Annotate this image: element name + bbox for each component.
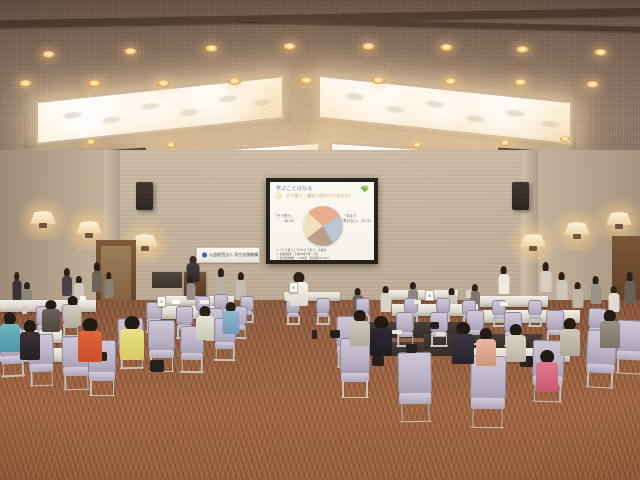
person-body bbox=[12, 280, 21, 300]
person-head bbox=[125, 316, 140, 330]
recessed-downlight bbox=[300, 77, 313, 84]
standing-staff-member bbox=[498, 266, 509, 294]
table-item bbox=[80, 296, 86, 300]
standing-staff-member bbox=[506, 324, 526, 362]
banquet-chair[interactable] bbox=[340, 338, 370, 398]
child-in-yellow-shirt bbox=[120, 316, 144, 360]
person-body bbox=[350, 321, 370, 346]
table-number-card: 8 bbox=[425, 290, 434, 301]
chair-seat bbox=[341, 373, 369, 383]
table-item bbox=[286, 296, 292, 301]
recessed-downlight bbox=[86, 139, 96, 145]
chair-leg bbox=[182, 358, 184, 372]
recessed-downlight bbox=[166, 142, 176, 148]
standing-staff-member bbox=[624, 272, 635, 304]
standing-staff-member bbox=[62, 268, 72, 296]
banner-text: 公益財団法人 学び支援機構 bbox=[209, 252, 258, 258]
recessed-downlight bbox=[157, 80, 170, 87]
table-item bbox=[466, 290, 471, 298]
table-item bbox=[414, 300, 421, 304]
banquet-chair[interactable] bbox=[528, 300, 542, 326]
recessed-downlight bbox=[19, 80, 32, 87]
attendee-bag bbox=[406, 344, 417, 353]
chair-leg bbox=[2, 362, 4, 376]
chair-leg bbox=[233, 348, 235, 361]
wall-sconce bbox=[560, 216, 594, 246]
person-body bbox=[624, 281, 635, 304]
chair-back bbox=[316, 298, 330, 314]
recessed-downlight bbox=[205, 45, 218, 52]
pie-label-left: 「そう思う」 36.2％ bbox=[274, 214, 294, 224]
sconce-base bbox=[573, 234, 581, 239]
chair-leg bbox=[617, 357, 619, 373]
chair-leg bbox=[472, 406, 474, 428]
standing-staff-member bbox=[20, 320, 40, 360]
sconce-base bbox=[615, 224, 623, 229]
chair-seat bbox=[471, 397, 504, 409]
slide-title: 学ぶことばなる bbox=[276, 185, 312, 192]
person-head bbox=[456, 322, 470, 335]
standing-staff-member bbox=[536, 350, 558, 392]
chair-rail bbox=[316, 323, 329, 325]
chair-leg bbox=[172, 356, 174, 372]
recessed-downlight bbox=[514, 79, 527, 86]
chair-seat bbox=[89, 372, 115, 381]
chair-seat bbox=[586, 363, 614, 374]
chair-seat bbox=[616, 351, 640, 361]
person-body bbox=[572, 289, 583, 308]
chair-leg bbox=[64, 374, 66, 390]
chair-leg bbox=[428, 401, 430, 422]
standing-staff-member bbox=[556, 272, 567, 300]
person-body bbox=[370, 328, 392, 356]
recessed-downlight bbox=[594, 49, 607, 56]
person-body bbox=[600, 321, 620, 348]
recessed-downlight bbox=[228, 78, 241, 85]
table-item bbox=[392, 330, 402, 334]
table-item bbox=[436, 332, 445, 336]
person-body bbox=[590, 284, 601, 304]
chair-seat bbox=[181, 352, 203, 360]
recessed-downlight bbox=[88, 80, 101, 87]
person-body bbox=[380, 293, 391, 312]
recessed-downlight bbox=[412, 142, 422, 148]
chair-leg bbox=[559, 384, 561, 403]
banquet-chair[interactable] bbox=[316, 298, 330, 324]
banquet-chair[interactable] bbox=[469, 356, 506, 429]
presentation-slide: 学ぶことばなる そう思う・最近で自分でいますか？ 「そう思う」 36.2％ 「あ… bbox=[270, 182, 374, 260]
chair-leg bbox=[30, 371, 32, 387]
attendee-bag bbox=[330, 330, 340, 338]
standing-staff-member bbox=[540, 262, 551, 292]
recessed-downlight bbox=[372, 77, 385, 84]
chair-leg bbox=[611, 371, 613, 388]
standing-staff-member bbox=[380, 286, 391, 312]
green-leaf-logo bbox=[359, 184, 371, 193]
recessed-downlight bbox=[560, 136, 570, 142]
chair-leg bbox=[201, 358, 203, 372]
banquet-chair[interactable] bbox=[396, 312, 415, 346]
recessed-downlight bbox=[124, 48, 137, 55]
table-item bbox=[200, 300, 209, 304]
chair-seat bbox=[29, 364, 53, 373]
recessed-downlight bbox=[283, 43, 296, 50]
photo-scene: 学ぶことばなる そう思う・最近で自分でいますか？ 「そう思う」 36.2％ 「あ… bbox=[0, 0, 640, 480]
chair-leg bbox=[342, 380, 344, 398]
person-body bbox=[104, 279, 113, 298]
standing-staff-member bbox=[608, 286, 619, 312]
table-item bbox=[22, 306, 27, 314]
person-head bbox=[83, 318, 98, 332]
slide-subtitle: そう思う・最近で自分でいますか？ bbox=[286, 193, 353, 199]
ceiling-speaker bbox=[512, 182, 529, 210]
chair-rail bbox=[528, 325, 541, 327]
standing-staff-member bbox=[104, 272, 113, 298]
event-banner: 公益財団法人 学び支援機構 bbox=[196, 247, 260, 263]
person-body bbox=[42, 309, 60, 332]
person-body bbox=[536, 362, 558, 392]
ceiling-speaker bbox=[136, 182, 153, 210]
banquet-chair[interactable] bbox=[397, 352, 432, 423]
standing-staff-member bbox=[590, 276, 601, 304]
standing-staff-member bbox=[196, 306, 214, 340]
recessed-downlight bbox=[42, 51, 55, 58]
chair-leg bbox=[401, 401, 403, 422]
table-item bbox=[172, 300, 180, 304]
pie-chart bbox=[303, 206, 343, 246]
standing-staff-member bbox=[560, 318, 580, 356]
person-body bbox=[78, 331, 102, 362]
projection-screen[interactable]: 学ぶことばなる そう思う・最近で自分でいますか？ 「そう思う」 36.2％ 「あ… bbox=[266, 178, 378, 264]
standing-staff-member bbox=[222, 302, 239, 334]
ceiling bbox=[0, 0, 640, 175]
chair-seat bbox=[149, 350, 174, 358]
standing-staff-member bbox=[476, 328, 496, 366]
attendee-bag bbox=[150, 360, 164, 372]
side-counter bbox=[152, 272, 182, 288]
person-body bbox=[506, 335, 526, 362]
chair-back bbox=[397, 352, 432, 396]
person-body bbox=[476, 339, 496, 366]
person-body bbox=[0, 324, 20, 352]
chair-rail bbox=[430, 345, 447, 347]
person-body bbox=[92, 271, 102, 292]
standing-staff-member bbox=[572, 282, 583, 308]
standing-staff-member bbox=[370, 316, 392, 356]
person-body bbox=[196, 316, 214, 340]
chair-rail bbox=[286, 323, 299, 325]
standing-staff-member bbox=[42, 300, 60, 332]
recessed-downlight bbox=[586, 81, 599, 88]
standing-staff-member bbox=[350, 310, 370, 346]
chair-back bbox=[148, 320, 175, 352]
standing-staff-member bbox=[92, 262, 102, 292]
person-body bbox=[62, 276, 72, 296]
wall-sconce bbox=[516, 228, 550, 258]
wall-sconce bbox=[26, 205, 60, 235]
recessed-downlight bbox=[516, 46, 529, 53]
recessed-downlight bbox=[362, 43, 375, 50]
standing-staff-member bbox=[452, 322, 474, 364]
person-body bbox=[560, 329, 580, 356]
sconce-base bbox=[141, 246, 149, 251]
person-body bbox=[452, 334, 474, 364]
person-body bbox=[186, 283, 195, 300]
chair-seat bbox=[399, 392, 430, 404]
chair-leg bbox=[113, 379, 115, 396]
slide-bullet-marker bbox=[275, 192, 282, 199]
child-in-orange-shirt bbox=[78, 318, 102, 362]
chair-leg bbox=[587, 370, 589, 387]
table-number-card: 3 bbox=[157, 296, 166, 307]
chair-back bbox=[176, 306, 193, 326]
chair-back bbox=[528, 300, 542, 316]
chair-seat bbox=[63, 367, 89, 376]
chair-leg bbox=[366, 380, 368, 398]
attendee-bag bbox=[372, 356, 384, 366]
standing-staff-member bbox=[12, 272, 21, 300]
banquet-chair[interactable] bbox=[430, 312, 448, 346]
chair-leg bbox=[51, 370, 53, 386]
chair-leg bbox=[22, 361, 24, 375]
pie-label-right: 「あまり 思わない」 22.7％ bbox=[343, 214, 371, 224]
wall-sconce bbox=[602, 206, 636, 236]
recessed-downlight bbox=[500, 140, 510, 146]
standing-staff-member bbox=[186, 276, 195, 300]
standing-staff-member bbox=[0, 312, 20, 352]
sconce-base bbox=[39, 223, 47, 228]
attendee-bag bbox=[430, 322, 439, 329]
person-body bbox=[556, 280, 567, 300]
person-body bbox=[540, 271, 551, 292]
person-head bbox=[540, 350, 554, 363]
standing-staff-member bbox=[600, 310, 620, 348]
banner-logo-icon bbox=[202, 253, 207, 258]
person-body bbox=[20, 332, 40, 360]
person-body bbox=[498, 274, 509, 294]
chair-leg bbox=[90, 379, 92, 396]
table-item bbox=[312, 330, 317, 339]
chair-seat bbox=[215, 342, 235, 349]
recessed-downlight bbox=[444, 78, 457, 85]
sconce-base bbox=[529, 246, 537, 251]
table-item bbox=[500, 302, 508, 306]
person-body bbox=[222, 311, 239, 334]
recessed-downlight bbox=[440, 44, 453, 51]
table-number-card: 5 bbox=[289, 282, 298, 293]
chair-leg bbox=[501, 407, 503, 429]
chair-leg bbox=[215, 347, 217, 360]
person-body bbox=[120, 329, 144, 360]
sconce-base bbox=[85, 233, 93, 238]
